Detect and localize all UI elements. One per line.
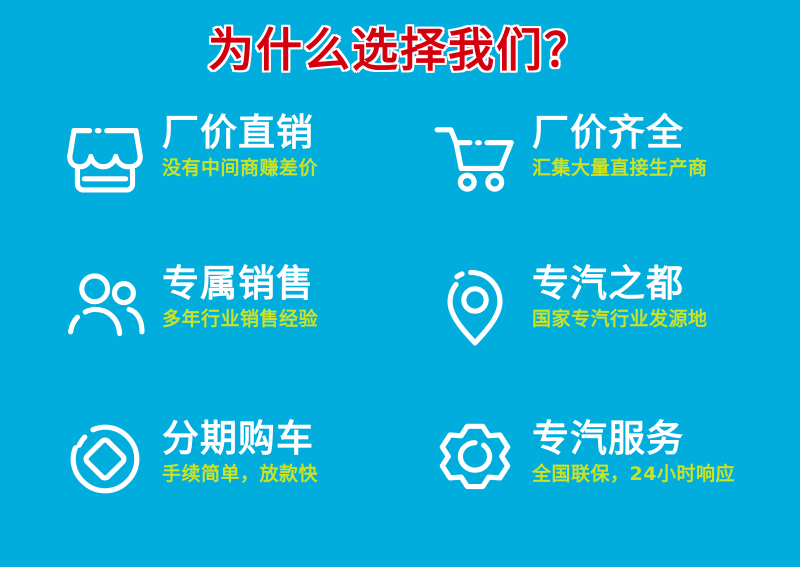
storefront-icon	[62, 110, 148, 196]
feature-title: 专汽服务	[532, 418, 735, 459]
feature-subtitle: 手续简单，放款快	[162, 463, 318, 486]
feature-subtitle: 国家专汽行业发源地	[532, 308, 708, 331]
feature-text-block: 厂价直销 没有中间商赚差价	[162, 108, 318, 180]
feature-text-block: 专汽服务 全国联保，24小时响应	[532, 414, 735, 486]
feature-subtitle: 没有中间商赚差价	[162, 157, 318, 180]
feature-title: 厂价齐全	[532, 112, 708, 153]
feature-item-dedicated-sales: 专属销售 多年行业销售经验	[0, 261, 400, 414]
feature-title: 厂价直销	[162, 112, 318, 153]
feature-subtitle: 全国联保，24小时响应	[532, 463, 735, 486]
banner-header: 为什么选择我们？	[0, 24, 800, 77]
feature-text-block: 厂价齐全 汇集大量直接生产商	[532, 108, 708, 180]
two-people-icon	[62, 263, 148, 349]
promo-banner: 为什么选择我们？ 厂价直销 没有中间商赚差价	[0, 0, 800, 567]
feature-item-full-range: 厂价齐全 汇集大量直接生产商	[400, 108, 800, 261]
gear-icon	[432, 416, 518, 502]
location-pin-icon	[432, 263, 518, 349]
page-title: 为什么选择我们？	[208, 24, 592, 77]
feature-text-block: 专汽之都 国家专汽行业发源地	[532, 261, 708, 331]
feature-title: 专汽之都	[532, 263, 708, 304]
shopping-cart-icon	[432, 110, 518, 196]
feature-text-block: 专属销售 多年行业销售经验	[162, 261, 318, 331]
feature-title: 分期购车	[162, 418, 318, 459]
feature-item-truck-capital: 专汽之都 国家专汽行业发源地	[400, 261, 800, 414]
feature-item-factory-direct: 厂价直销 没有中间商赚差价	[0, 108, 400, 261]
feature-text-block: 分期购车 手续简单，放款快	[162, 414, 318, 486]
feature-title: 专属销售	[162, 263, 318, 304]
feature-item-installment: 分期购车 手续简单，放款快	[0, 414, 400, 567]
feature-subtitle: 汇集大量直接生产商	[532, 157, 708, 180]
feature-grid: 厂价直销 没有中间商赚差价 厂价齐全 汇集大量直接生产商	[0, 108, 800, 556]
feature-subtitle: 多年行业销售经验	[162, 308, 318, 331]
feature-item-service: 专汽服务 全国联保，24小时响应	[400, 414, 800, 567]
diamond-in-circle-icon	[62, 416, 148, 502]
